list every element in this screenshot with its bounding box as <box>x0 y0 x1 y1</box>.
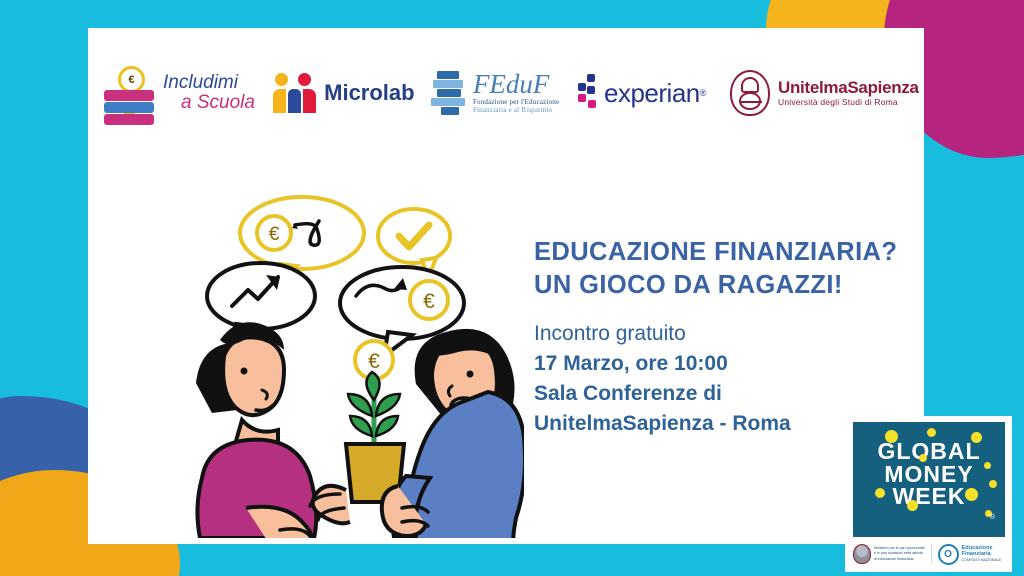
svg-text:€: € <box>423 290 435 313</box>
two-people-icon <box>273 71 317 115</box>
gmw-panel: GLOBAL MONEY WEEK ® <box>853 422 1005 537</box>
republic-emblem-icon <box>853 544 871 564</box>
unitelma-crest-icon <box>730 70 770 116</box>
ministero-line2: e le pari occasioni nelle attività <box>874 551 925 556</box>
unitelma-wordmark: UnitelmaSapienza <box>778 79 919 98</box>
microlab-wordmark: Microlab <box>324 80 414 106</box>
event-detail-free: Incontro gratuito <box>534 319 934 349</box>
experian-registered-mark: ® <box>700 88 707 98</box>
unitelma-subtitle: Università degli Studi di Roma <box>778 98 919 107</box>
gmw-line-global: GLOBAL <box>853 440 1005 463</box>
global-money-week-badge: GLOBAL MONEY WEEK ® Ministero per le par… <box>845 416 1012 572</box>
svg-text:€: € <box>269 224 280 245</box>
footer-divider <box>931 545 932 563</box>
logo-educazione-finanziaria: O Educazione Finanziaria COMITATO NAZION… <box>938 544 1002 565</box>
ef-line3: COMITATO NAZIONALE <box>962 558 1002 563</box>
feduf-wordmark: FEduF <box>473 72 559 98</box>
headline-line-1: EDUCAZIONE FINANZIARIA? <box>534 236 934 269</box>
education-circle-icon: O <box>938 544 959 565</box>
headline-line-2: UN GIOCO DA RAGAZZI! <box>534 269 934 302</box>
includimi-line2: a Scuola <box>163 93 255 113</box>
includimi-line1: Includimi <box>163 73 255 93</box>
gmw-footer-logos: Ministero per le pari opportunità e le p… <box>853 542 1005 566</box>
poster-canvas: € Includimi a Scuola Microlab <box>0 0 1024 576</box>
experian-wordmark: experian <box>604 78 700 109</box>
svg-text:€: € <box>368 350 380 373</box>
ministero-line3: di educazione finanziaria <box>874 557 925 562</box>
ef-line1: Educazione <box>962 545 1002 552</box>
ef-line2: Finanziaria <box>962 551 1002 558</box>
logo-microlab: Microlab <box>273 71 429 115</box>
event-detail-datetime: 17 Marzo, ore 10:00 <box>534 349 934 379</box>
event-detail-venue: Sala Conferenze di <box>534 379 934 409</box>
logo-ministero: Ministero per le pari opportunità e le p… <box>853 544 925 564</box>
content-card: € Includimi a Scuola Microlab <box>88 28 924 544</box>
logo-experian: experian ® <box>578 74 730 112</box>
feduf-subtitle-line1: Fondazione per l'Educazione <box>473 98 559 106</box>
logo-includimi-a-scuola: € Includimi a Scuola <box>96 62 273 124</box>
feduf-subtitle-line2: Finanziaria e al Risparmio <box>473 106 559 114</box>
gmw-line-money: MONEY <box>853 463 1005 486</box>
partner-logo-strip: € Includimi a Scuola Microlab <box>96 54 916 132</box>
event-text-block: EDUCAZIONE FINANZIARIA? UN GIOCO DA RAGA… <box>534 236 934 439</box>
logo-feduf: FEduF Fondazione per l'Educazione Finanz… <box>429 69 578 117</box>
logo-unitelmasapienza: UnitelmaSapienza Università degli Studi … <box>730 70 916 116</box>
euro-coin-icon: € <box>118 66 145 93</box>
book-stack-icon: € <box>100 62 158 124</box>
feduf-stack-icon <box>429 69 469 117</box>
illustration-two-people-with-plant: € € <box>184 178 524 538</box>
experian-dots-icon <box>578 74 602 112</box>
gmw-registered-mark: ® <box>990 514 995 521</box>
